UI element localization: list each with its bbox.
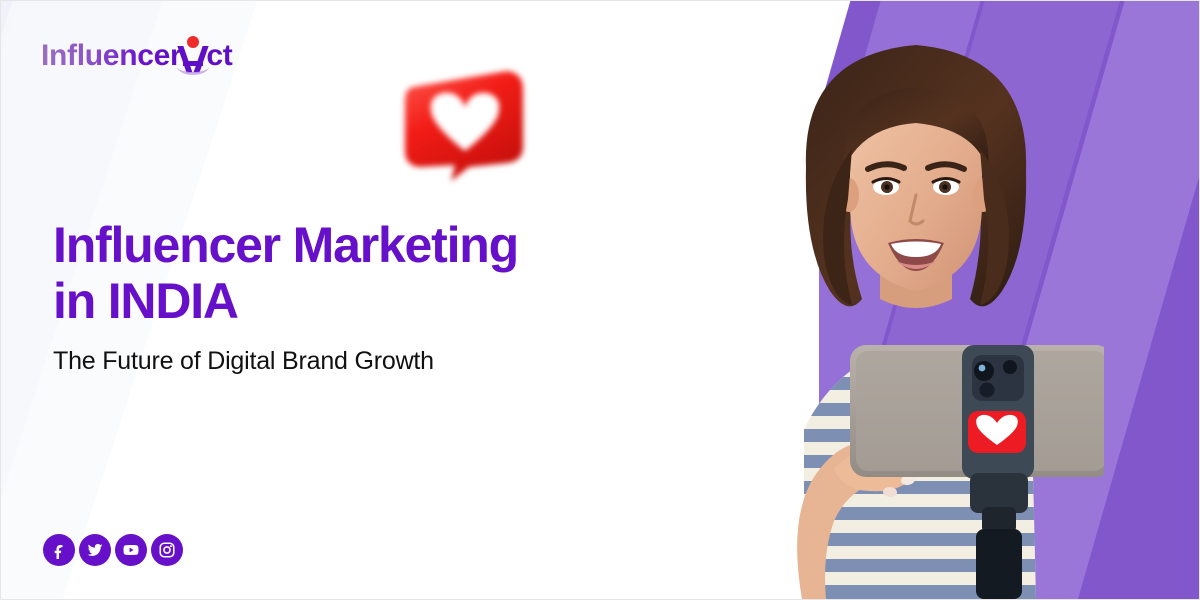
brand-logo-text: Influencer bbox=[41, 41, 181, 71]
social-links bbox=[43, 534, 183, 566]
social-link-youtube[interactable] bbox=[115, 534, 147, 566]
social-link-instagram[interactable] bbox=[151, 534, 183, 566]
instagram-icon bbox=[158, 541, 176, 559]
heart-like-bubble-icon bbox=[399, 63, 531, 181]
logo-swoosh bbox=[177, 58, 209, 75]
twitter-icon bbox=[86, 541, 104, 559]
stylized-letter-a-person-icon bbox=[178, 36, 208, 76]
brand-logo-text-tail: ct bbox=[206, 41, 232, 71]
heart-like-badge bbox=[968, 411, 1026, 453]
hero-photo bbox=[684, 0, 1104, 599]
facebook-icon bbox=[50, 541, 68, 559]
page-title-line-1: Influencer Marketing bbox=[53, 217, 518, 273]
social-link-twitter[interactable] bbox=[79, 534, 111, 566]
promo-banner: Influencer ct Influencer Marketing in IN… bbox=[0, 0, 1200, 600]
brand-logo[interactable]: Influencer ct bbox=[41, 35, 232, 77]
page-subtitle: The Future of Digital Brand Growth bbox=[53, 347, 673, 376]
hero-text-block: Influencer Marketing in INDIA The Future… bbox=[53, 217, 673, 376]
youtube-icon bbox=[122, 541, 140, 559]
logo-head-dot bbox=[187, 36, 199, 48]
page-title-line-2: in INDIA bbox=[53, 273, 238, 329]
page-title: Influencer Marketing in INDIA bbox=[53, 217, 673, 329]
social-link-facebook[interactable] bbox=[43, 534, 75, 566]
